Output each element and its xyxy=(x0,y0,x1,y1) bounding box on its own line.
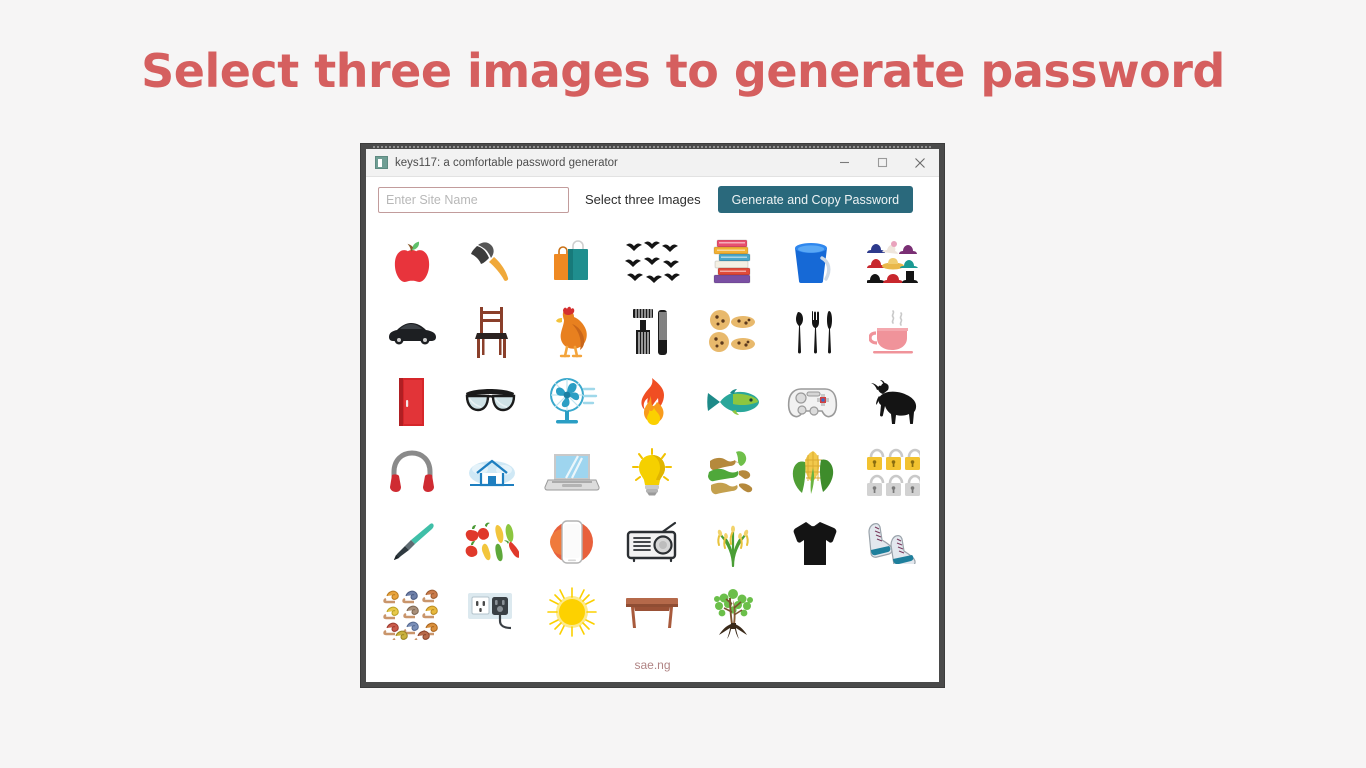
table-icon xyxy=(625,594,679,630)
image-tile-gamepad[interactable] xyxy=(773,367,853,437)
lizards-icon xyxy=(706,449,760,495)
image-tile-peppers[interactable] xyxy=(452,507,532,577)
image-tile-tree[interactable] xyxy=(693,577,773,647)
image-tile-phone[interactable] xyxy=(532,507,612,577)
image-tile-headphones[interactable] xyxy=(372,437,452,507)
phone-icon xyxy=(549,517,595,567)
image-tile-rice[interactable] xyxy=(693,507,773,577)
image-tile-bags[interactable] xyxy=(532,227,612,297)
image-tile-car[interactable] xyxy=(372,297,452,367)
image-tile-hats[interactable] xyxy=(853,227,933,297)
maize-icon xyxy=(790,446,836,498)
window-frame: keys117: a comfortable password generato… xyxy=(361,144,944,687)
image-tile-shoes[interactable] xyxy=(853,507,933,577)
radio-icon xyxy=(625,521,679,563)
footer-branding: sae.ng xyxy=(366,658,939,682)
snails-icon xyxy=(383,584,441,640)
books-icon xyxy=(709,236,757,288)
headphones-icon xyxy=(389,449,435,495)
image-tile-eyeglasses[interactable] xyxy=(452,367,532,437)
apple-icon xyxy=(391,239,433,285)
image-tile-chair[interactable] xyxy=(452,297,532,367)
image-tile-chicken[interactable] xyxy=(532,297,612,367)
socket-icon xyxy=(467,591,517,633)
image-tile-apple[interactable] xyxy=(372,227,452,297)
image-selection-grid xyxy=(372,227,933,647)
image-tile-fire[interactable] xyxy=(612,367,692,437)
shoes-icon xyxy=(866,520,920,564)
image-grid-area xyxy=(366,223,939,658)
lightbulb-icon xyxy=(630,447,674,497)
frame-drag-handle xyxy=(373,146,932,148)
titlebar-left[interactable]: keys117: a comfortable password generato… xyxy=(366,156,825,169)
image-tile-bucket[interactable] xyxy=(773,227,853,297)
car-icon xyxy=(386,318,438,346)
chicken-icon xyxy=(552,306,592,358)
fan-icon xyxy=(546,377,598,427)
cookies-icon xyxy=(707,308,759,356)
bags-icon xyxy=(551,239,593,285)
image-tile-door[interactable] xyxy=(372,367,452,437)
image-tile-house[interactable] xyxy=(452,437,532,507)
toolbar: Select three Images Generate and Copy Pa… xyxy=(366,177,939,223)
image-tile-fan[interactable] xyxy=(532,367,612,437)
image-tile-table[interactable] xyxy=(612,577,692,647)
generate-and-copy-password-button[interactable]: Generate and Copy Password xyxy=(718,186,913,213)
site-name-input[interactable] xyxy=(378,187,569,213)
maximize-icon[interactable] xyxy=(863,149,901,176)
eyeglasses-icon xyxy=(464,387,520,417)
image-tile-goat[interactable] xyxy=(853,367,933,437)
image-tile-cookies[interactable] xyxy=(693,297,773,367)
gamepad-icon xyxy=(787,384,839,420)
house-icon xyxy=(468,453,516,491)
combs-icon xyxy=(631,306,673,358)
laptop-icon xyxy=(544,452,600,492)
application-window: keys117: a comfortable password generato… xyxy=(366,149,939,682)
tree-icon xyxy=(709,584,757,640)
image-tile-lizards[interactable] xyxy=(693,437,773,507)
shirt-icon xyxy=(787,519,839,565)
goat-icon xyxy=(867,380,919,424)
birds-icon xyxy=(624,237,680,287)
image-tile-shirt[interactable] xyxy=(773,507,853,577)
chair-icon xyxy=(473,305,511,359)
bucket-icon xyxy=(790,238,836,286)
image-tile-radio[interactable] xyxy=(612,507,692,577)
image-tile-paintbrush[interactable] xyxy=(372,507,452,577)
image-tile-maize[interactable] xyxy=(773,437,853,507)
app-icon xyxy=(375,156,388,169)
fire-icon xyxy=(632,377,672,427)
fish-icon xyxy=(706,387,760,417)
cup-icon xyxy=(869,308,917,356)
sun-icon xyxy=(547,587,597,637)
hats-icon xyxy=(867,238,919,286)
image-tile-cutlery[interactable] xyxy=(773,297,853,367)
rice-icon xyxy=(711,517,755,567)
image-tile-laptop[interactable] xyxy=(532,437,612,507)
image-tile-locks[interactable] xyxy=(853,437,933,507)
close-icon[interactable] xyxy=(901,149,939,176)
image-tile-sun[interactable] xyxy=(532,577,612,647)
peppers-icon xyxy=(465,520,519,564)
instruction-label: Select three Images xyxy=(585,192,701,207)
image-tile-books[interactable] xyxy=(693,227,773,297)
image-tile-fish[interactable] xyxy=(693,367,773,437)
image-tile-snails[interactable] xyxy=(372,577,452,647)
image-tile-combs[interactable] xyxy=(612,297,692,367)
image-tile-birds[interactable] xyxy=(612,227,692,297)
axe-icon xyxy=(468,240,516,284)
page-title: Select three images to generate password xyxy=(0,44,1366,98)
image-tile-socket[interactable] xyxy=(452,577,532,647)
image-tile-cup[interactable] xyxy=(853,297,933,367)
paintbrush-icon xyxy=(389,522,435,562)
minimize-icon[interactable] xyxy=(825,149,863,176)
titlebar: keys117: a comfortable password generato… xyxy=(366,149,939,177)
door-icon xyxy=(395,376,429,428)
image-tile-lightbulb[interactable] xyxy=(612,437,692,507)
cutlery-icon xyxy=(791,308,835,356)
window-title: keys117: a comfortable password generato… xyxy=(395,157,618,169)
locks-icon xyxy=(866,445,920,499)
window-controls xyxy=(825,149,939,176)
image-tile-axe[interactable] xyxy=(452,227,532,297)
